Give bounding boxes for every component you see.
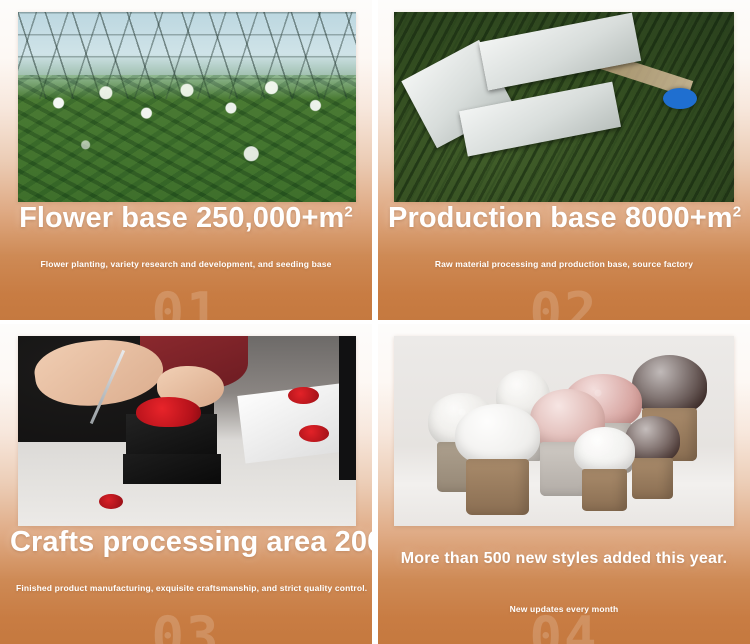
blue-pool-shape (663, 88, 697, 109)
panel-title-text-04: More than 500 new styles added this year… (401, 550, 728, 567)
feature-panel-grid: Flower base 250,000+m2 Flower planting, … (0, 0, 750, 644)
photo-scene-aerial (394, 12, 734, 202)
panel-subtitle-02: Raw material processing and production b… (378, 235, 750, 269)
greenhouse-white-flowers-photo (18, 12, 356, 202)
panel-new-styles[interactable]: More than 500 new styles added this year… (378, 324, 750, 644)
panel-title-superscript-02: 2 (733, 203, 742, 220)
panel-subtitle-03: Finished product manufacturing, exquisit… (0, 559, 372, 593)
red-rose-table-shape (99, 494, 123, 509)
rose-dome-6 (574, 427, 635, 474)
panel-subtitle-01: Flower planting, variety research and de… (0, 235, 372, 269)
box-pot-7 (632, 458, 672, 500)
photo-scene-bouquets (394, 336, 734, 526)
panel-title-text-02: Production base 8000+m (388, 202, 733, 234)
rose-dome-2 (455, 404, 540, 466)
box-pot-2 (466, 459, 529, 514)
bouquet-box-shape-2 (455, 404, 540, 514)
caption-zone-04: More than 500 new styles added this year… (378, 526, 750, 644)
panel-title-text-01: Flower base 250,000+m (19, 202, 344, 234)
red-rose-main-shape (136, 397, 200, 427)
craftsperson-assembling-rose-box-photo (18, 336, 356, 526)
panel-title-text-03: Crafts processing area 2000+m (10, 526, 372, 558)
photo-scene-greenhouse (18, 12, 356, 202)
building-shape-2 (479, 13, 642, 91)
caption-zone-02: Production base 8000+m2 Raw material pro… (378, 202, 750, 320)
bouquet-box-shape-6 (574, 427, 635, 511)
box-pot-6 (582, 469, 627, 511)
panel-title-03: Crafts processing area 2000+m2 (0, 526, 372, 559)
panel-title-04: More than 500 new styles added this year… (378, 526, 750, 568)
panel-crafts-processing[interactable]: Crafts processing area 2000+m2 Finished … (0, 324, 372, 644)
gift-box-base-shape (123, 454, 221, 484)
panel-flower-base[interactable]: Flower base 250,000+m2 Flower planting, … (0, 0, 372, 320)
panel-production-base[interactable]: Production base 8000+m2 Raw material pro… (378, 0, 750, 320)
rose-dome-8 (632, 355, 707, 415)
panel-title-02: Production base 8000+m2 (378, 202, 750, 235)
dark-edge-shape (339, 336, 356, 480)
photo-scene-crafts (18, 336, 356, 526)
panel-title-01: Flower base 250,000+m2 (0, 202, 372, 235)
panel-title-superscript-01: 2 (344, 203, 353, 220)
aerial-factory-buildings-photo (394, 12, 734, 202)
rose-bouquet-hat-boxes-photo (394, 336, 734, 526)
caption-zone-03: Crafts processing area 2000+m2 Finished … (0, 526, 372, 644)
caption-zone-01: Flower base 250,000+m2 Flower planting, … (0, 202, 372, 320)
panel-subtitle-04: New updates every month (378, 568, 750, 614)
